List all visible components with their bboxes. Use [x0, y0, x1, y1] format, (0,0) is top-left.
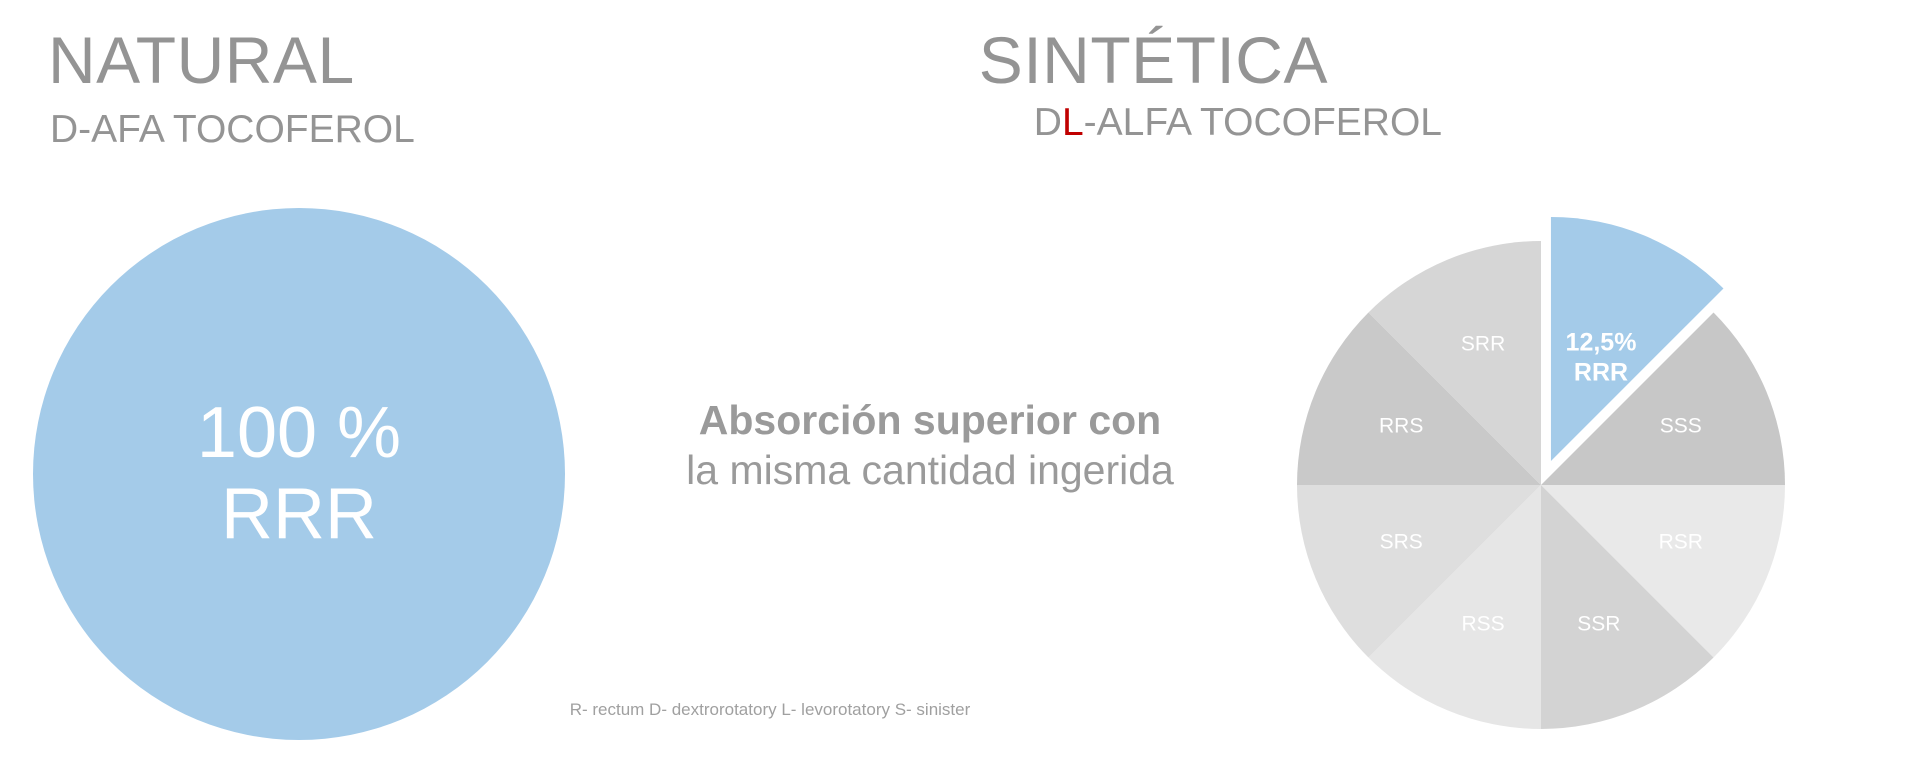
natural-percent-label: 100 % [197, 393, 401, 474]
slide-canvas: NATURAL D-AFA TOCOFEROL SINTÉTICA DL-ALF… [0, 0, 1920, 782]
synthetic-panel-title: SINTÉTICA [979, 27, 1328, 93]
natural-isomer-label: RRR [221, 474, 377, 555]
pie-slice-label-srr: SRR [1461, 333, 1505, 356]
pie-slice-label-rrs: RRS [1379, 415, 1423, 438]
pie-slice-label-rss: RSS [1462, 612, 1505, 635]
synthetic-subtitle-prefix: D [1034, 101, 1062, 144]
pie-slice-label-rsr: RSR [1659, 530, 1703, 553]
natural-pie-chart: 100 % RRR [33, 208, 565, 740]
synthetic-subtitle-suffix: -ALFA TOCOFEROL [1084, 101, 1442, 144]
pie-slice-label-rrr: RRR [1574, 358, 1628, 386]
synthetic-panel-subtitle: DL-ALFA TOCOFEROL [1034, 103, 1442, 142]
pie-slice-group [1297, 217, 1785, 729]
synthetic-pie-svg: 12,5%RRRSSSRSRSSRRSSSRSRRSSRR [1280, 150, 1810, 782]
pie-slice-label-sss: SSS [1660, 415, 1702, 438]
natural-panel-title: NATURAL [48, 27, 355, 93]
center-message-line-1: Absorción superior con [600, 395, 1260, 445]
pie-slice-value-rrr: 12,5% [1566, 328, 1637, 356]
synthetic-subtitle-highlight-l: L [1062, 101, 1084, 144]
center-message: Absorción superior con la misma cantidad… [600, 395, 1260, 495]
natural-panel-subtitle: D-AFA TOCOFEROL [50, 110, 415, 149]
pie-slice-label-ssr: SSR [1577, 612, 1620, 635]
synthetic-pie-chart: 12,5%RRRSSSRSRSSRRSSSRSRRSSRR [1280, 150, 1810, 782]
pie-slice-label-srs: SRS [1380, 530, 1423, 553]
center-message-line-2: la misma cantidad ingerida [600, 445, 1260, 495]
